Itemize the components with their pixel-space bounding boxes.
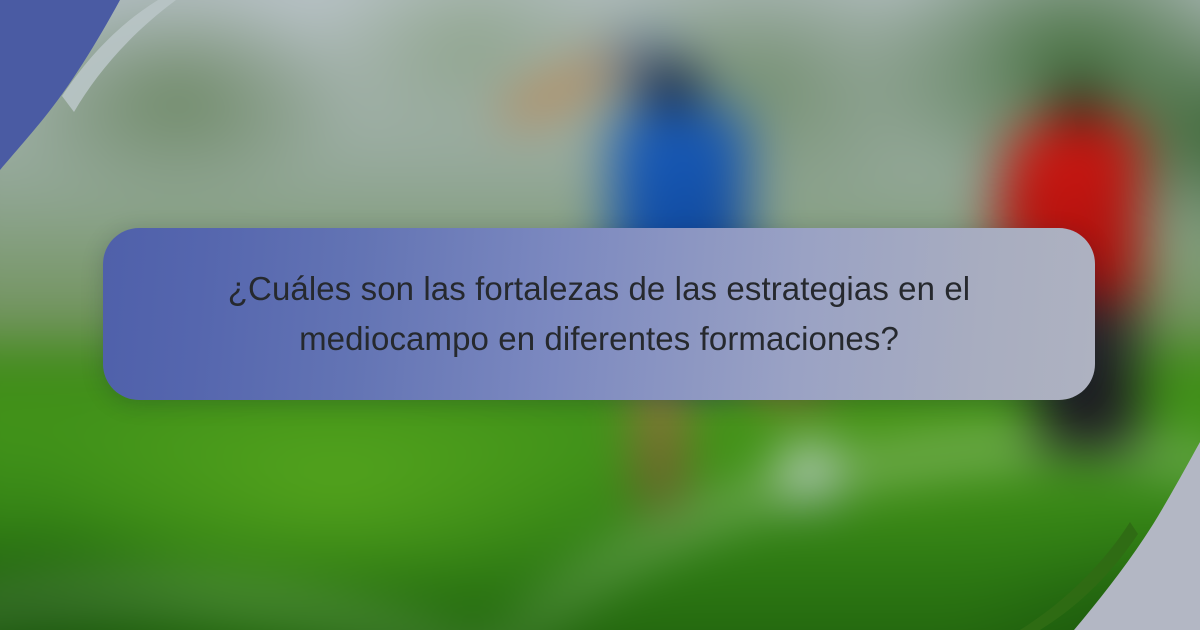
screenshot-canvas: ¿Cuáles son las fortalezas de las estrat… <box>0 0 1200 630</box>
question-card: ¿Cuáles son las fortalezas de las estrat… <box>103 228 1095 400</box>
question-text: ¿Cuáles son las fortalezas de las estrat… <box>199 264 999 364</box>
soccer-ball <box>782 445 838 501</box>
